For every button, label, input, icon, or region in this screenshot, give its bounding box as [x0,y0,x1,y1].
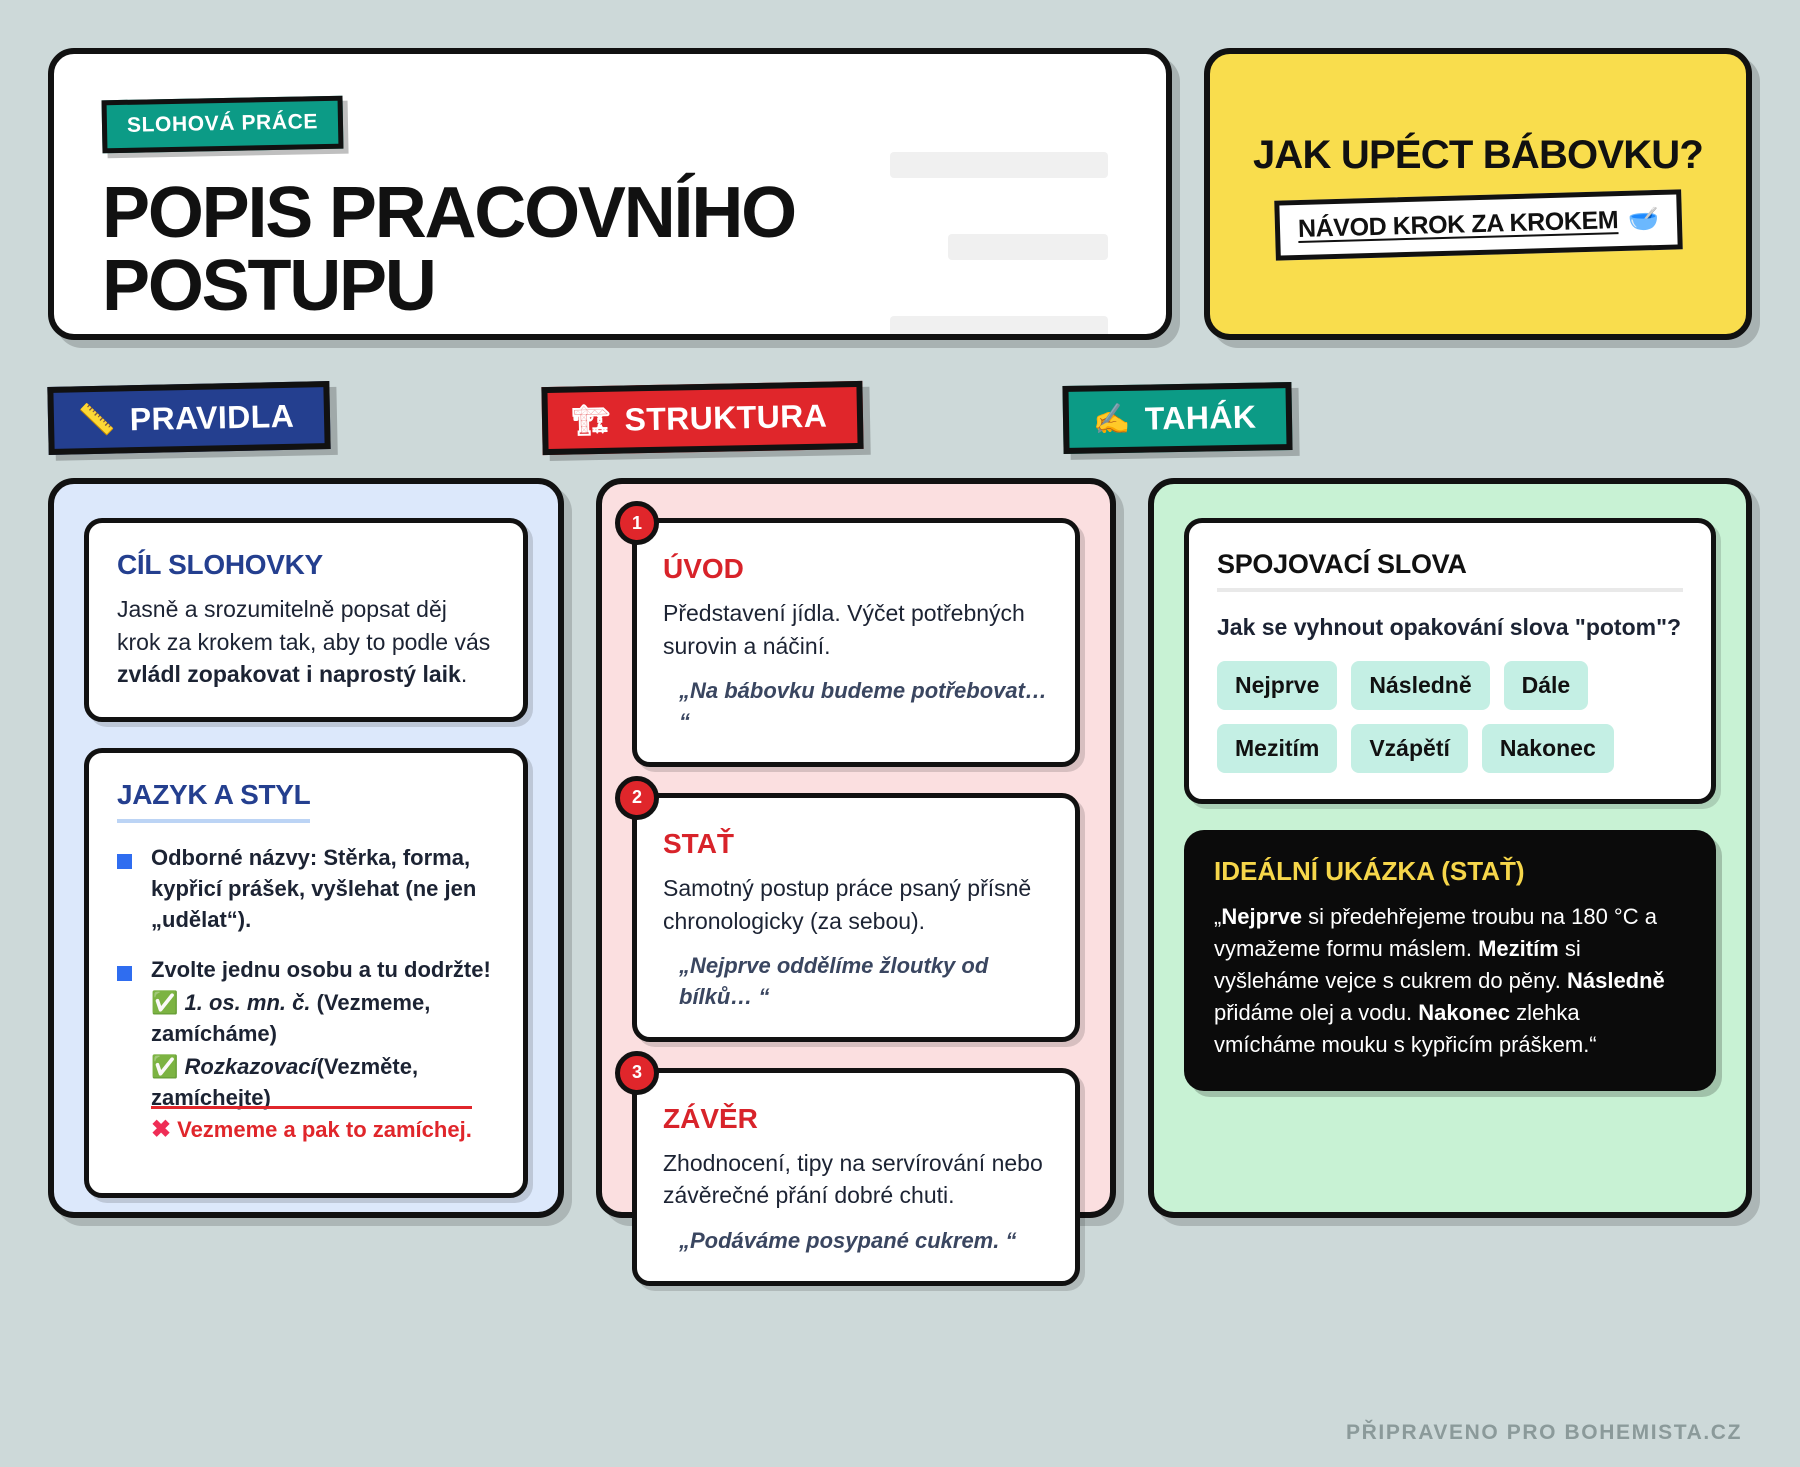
header-row: SLOHOVÁ PRÁCE POPIS PRACOVNÍHO POSTUPU J… [48,48,1752,340]
list-item: Zvolte jednu osobu a tu dodržte! ✅ 1. os… [117,955,495,1147]
connector-word: Nejprve [1221,904,1302,929]
connector-word-chips: Nejprve Následně Dále Mezitím Vzápětí Na… [1217,661,1683,773]
bad-example-text: Vezmeme a pak to zamíchej. [177,1117,472,1142]
column-struktura: 1 ÚVOD Představení jídla. Výčet potřebný… [596,478,1116,1218]
section-badge-tahak: ✍️ TAHÁK [1063,382,1294,454]
step-text: Zhodnocení, tipy na servírování nebo záv… [663,1147,1049,1212]
list-item: Vzápětí [1351,724,1468,773]
card-heading: JAZYK A STYL [117,779,310,823]
card-cil-slohovky: CÍL SLOHOVKY Jasně a srozumitelně popsat… [84,518,528,722]
green-check-icon: ✅ [151,990,178,1015]
step-text: Představení jídla. Výčet potřebných suro… [663,597,1049,662]
step-text: Samotný postup práce psaný přísně chrono… [663,872,1049,937]
footer-credit: PŘIPRAVENO PRO BOHEMISTA.CZ [1346,1421,1742,1445]
card-body: Jasně a srozumitelně popsat děj krok za … [117,593,495,691]
step-card-zaver: 3 ZÁVĚR Zhodnocení, tipy na servírování … [632,1068,1080,1286]
topic-subtitle-label: NÁVOD KROK ZA KROKEM [1297,206,1618,244]
list-item: Nejprve [1217,661,1337,710]
example-text: přidáme olej a vodu. [1214,1000,1418,1025]
step-quote: „Nejprve oddělíme žloutky od bílků… “ [663,951,1049,1013]
list-item: Následně [1351,661,1489,710]
style-rules-list: Odborné názvy: Stěrka, forma, kypřicí pr… [117,843,495,1147]
step-card-uvod: 1 ÚVOD Představení jídla. Výčet potřebný… [632,518,1080,767]
card-question: Jak se vyhnout opakování slova "potom"? [1217,612,1683,643]
writing-hand-icon: ✍️ [1093,401,1131,437]
topic-card: JAK UPÉCT BÁBOVKU? NÁVOD KROK ZA KROKEM … [1204,48,1752,340]
step-heading: STAŤ [663,828,1049,860]
topic-title: JAK UPÉCT BÁBOVKU? [1253,133,1703,177]
ok-label: 1. os. mn. č. [185,990,311,1015]
bad-example: ✖Vezmeme a pak to zamíchej. [151,1106,472,1142]
card-idealni-ukazka: IDEÁLNÍ UKÁZKA (STAŤ) „Nejprve si předeh… [1184,830,1716,1090]
example-paragraph: „Nejprve si předehřejeme troubu na 180 °… [1214,901,1686,1060]
columns-row: CÍL SLOHOVKY Jasně a srozumitelně popsat… [48,478,1752,1218]
section-badge-label: STRUKTURA [624,397,827,438]
infographic-page: SLOHOVÁ PRÁCE POPIS PRACOVNÍHO POSTUPU J… [0,0,1800,1467]
ok-label: Rozkazovací [185,1054,317,1079]
section-badge-pravidla: 📏 PRAVIDLA [47,381,331,455]
goal-text-bold: zvládl zopakovat i naprostý laik [117,661,461,687]
connector-word: Nakonec [1418,1000,1510,1025]
topic-subtitle-sticker: NÁVOD KROK ZA KROKEM 🥣 [1274,189,1683,260]
list-item: Nakonec [1482,724,1614,773]
step-number-badge: 3 [615,1051,659,1095]
section-badge-label: PRAVIDLA [129,397,294,437]
section-badge-label: TAHÁK [1145,398,1257,437]
card-jazyk-a-styl: JAZYK A STYL Odborné názvy: Stěrka, form… [84,748,528,1198]
step-heading: ZÁVĚR [663,1103,1049,1135]
red-cross-icon: ✖ [151,1116,171,1143]
column-tahak: SPOJOVACÍ SLOVA Jak se vyhnout opakování… [1148,478,1752,1218]
list-item: Dále [1504,661,1589,710]
rule-lead: Zvolte jednu osobu a tu dodržte! [151,957,491,982]
step-quote: „Na bábovku budeme potřebovat… “ [663,676,1049,738]
placeholder-bar [890,316,1108,340]
ok-example-2: ✅ Rozkazovací(Vezměte, zamíchejte) [151,1052,495,1114]
step-card-stat: 2 STAŤ Samotný postup práce psaný přísně… [632,793,1080,1042]
step-number-badge: 1 [615,501,659,545]
list-item: Mezitím [1217,724,1337,773]
ok-example-1: ✅ 1. os. mn. č. (Vezmeme, zamícháme) [151,988,495,1050]
card-heading: IDEÁLNÍ UKÁZKA (STAŤ) [1214,856,1686,887]
column-pravidla: CÍL SLOHOVKY Jasně a srozumitelně popsat… [48,478,564,1218]
category-tag: SLOHOVÁ PRÁCE [102,96,344,154]
construction-icon: 🏗 [572,402,611,438]
rule-lead: Odborné názvy: [151,845,317,870]
page-title: POPIS PRACOVNÍHO POSTUPU [102,177,862,324]
card-spojovaci-slova: SPOJOVACÍ SLOVA Jak se vyhnout opakování… [1184,518,1716,804]
card-heading: SPOJOVACÍ SLOVA [1217,549,1683,592]
placeholder-bar [948,234,1108,260]
list-item: Odborné názvy: Stěrka, forma, kypřicí pr… [117,843,495,935]
connector-word: Mezitím [1478,936,1559,961]
ruler-icon: 📏 [78,402,116,438]
title-card: SLOHOVÁ PRÁCE POPIS PRACOVNÍHO POSTUPU [48,48,1172,340]
bowl-with-spoon-icon: 🥣 [1627,205,1659,235]
section-badges-row: 📏 PRAVIDLA 🏗 STRUKTURA ✍️ TAHÁK [48,384,1752,456]
step-heading: ÚVOD [663,553,1049,585]
step-number-badge: 2 [615,776,659,820]
step-quote: „Podáváme posypané cukrem. “ [663,1226,1049,1257]
goal-text-part1: Jasně a srozumitelně popsat děj krok za … [117,596,490,655]
green-check-icon: ✅ [151,1054,178,1079]
goal-text-part2: . [461,661,467,687]
connector-word: Následně [1567,968,1665,993]
card-heading: CÍL SLOHOVKY [117,549,495,581]
placeholder-bar [890,152,1108,178]
section-badge-struktura: 🏗 STRUKTURA [542,381,864,455]
